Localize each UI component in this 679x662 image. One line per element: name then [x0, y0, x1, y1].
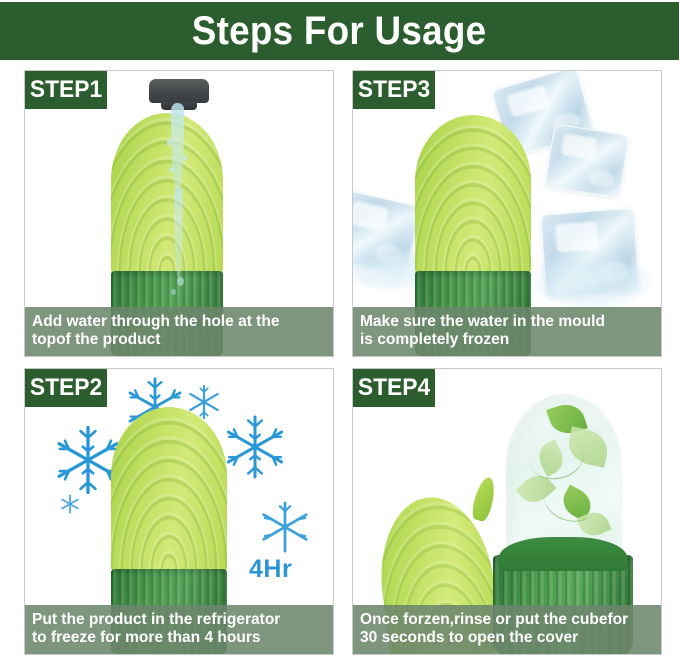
panel-step4: STEP4 Once forzen,rinse or put the cubef… [352, 368, 662, 655]
faucet-icon [149, 79, 209, 103]
caption-line: topof the product [32, 331, 317, 349]
caption-line: Put the product in the refrigerator [32, 611, 317, 629]
water-droplet [183, 155, 187, 161]
step-badge-label: STEP1 [30, 78, 102, 102]
caption-line: to freeze for more than 4 hours [32, 629, 317, 647]
header-banner: Steps For Usage [0, 2, 679, 60]
step1-illustration: STEP1 Add water through the hole at the … [25, 71, 333, 356]
step-badge-label: STEP3 [358, 78, 430, 102]
roller-dome [111, 407, 227, 571]
caption-line: is completely frozen [360, 331, 645, 349]
step3-illustration: STEP3 Make sure the water in the mould i… [353, 71, 661, 356]
caption-line: Once forzen,rinse or put the cubefor [360, 611, 645, 629]
water-droplet [167, 139, 172, 146]
caption-step1: Add water through the hole at the topof … [25, 307, 333, 356]
caption-line: Make sure the water in the mould [360, 313, 645, 331]
caption-line: 30 seconds to open the cover [360, 629, 645, 647]
step-badge-3: STEP3 [353, 71, 435, 109]
page-title: Steps For Usage [192, 11, 487, 51]
infographic-root: Steps For Usage STEP1 Add water th [0, 0, 679, 662]
caption-step3: Make sure the water in the mould is comp… [353, 307, 661, 356]
water-droplet [169, 167, 175, 172]
roller-dome [415, 115, 531, 273]
caption-step4: Once forzen,rinse or put the cubefor 30 … [353, 605, 661, 654]
ice-cube [544, 123, 629, 198]
roller-dome [111, 113, 223, 273]
frozen-ice-cube [505, 393, 623, 555]
snowflake-icon [221, 413, 289, 481]
step-badge-2: STEP2 [25, 369, 107, 407]
step-badge-label: STEP2 [30, 376, 102, 400]
water-droplet [171, 289, 176, 295]
step-badge-4: STEP4 [353, 369, 435, 407]
caption-step2: Put the product in the refrigerator to f… [25, 605, 333, 654]
step-badge-1: STEP1 [25, 71, 107, 109]
panel-step2: 4Hr STEP2 Put the product in the refrige… [24, 368, 334, 655]
step4-illustration: STEP4 Once forzen,rinse or put the cubef… [353, 369, 661, 654]
panel-step3: STEP3 Make sure the water in the mould i… [352, 70, 662, 357]
panel-step1: STEP1 Add water through the hole at the … [24, 70, 334, 357]
ice-splash [529, 253, 653, 309]
step2-illustration: 4Hr STEP2 Put the product in the refrige… [25, 369, 333, 654]
snowflake-icon [257, 499, 313, 555]
step-badge-label: STEP4 [358, 376, 430, 400]
mould-collar [499, 537, 627, 571]
duration-label: 4Hr [249, 555, 292, 584]
caption-line: Add water through the hole at the [32, 313, 317, 331]
water-droplet [177, 277, 184, 286]
cover-tab [470, 475, 498, 522]
snowflake-icon [59, 493, 81, 515]
